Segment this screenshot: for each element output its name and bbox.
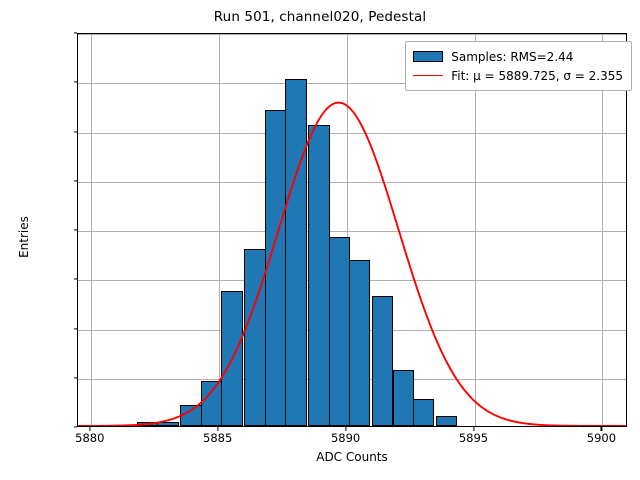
x-tick-mark	[217, 427, 218, 431]
x-tick-label: 5885	[203, 431, 232, 445]
legend-label-samples: Samples: RMS=2.44	[451, 50, 573, 64]
x-tick-mark	[345, 427, 346, 431]
y-axis-label: Entries	[17, 137, 31, 337]
legend-line-swatch-icon	[413, 75, 443, 76]
x-tick-label: 5880	[75, 431, 104, 445]
x-tick-mark	[89, 427, 90, 431]
legend-label-fit: Fit: μ = 5889.725, σ = 2.355	[451, 69, 623, 83]
x-axis-label: ADC Counts	[77, 450, 627, 464]
x-tick-label: 5895	[459, 431, 488, 445]
x-tick-label: 5890	[331, 431, 360, 445]
chart-legend: Samples: RMS=2.44 Fit: μ = 5889.725, σ =…	[405, 41, 632, 91]
x-tick-mark	[601, 427, 602, 431]
chart-title: Run 501, channel020, Pedestal	[0, 9, 640, 25]
x-tick-label: 5900	[587, 431, 616, 445]
legend-entry-fit: Fit: μ = 5889.725, σ = 2.355	[413, 66, 623, 85]
legend-entry-samples: Samples: RMS=2.44	[413, 47, 623, 66]
x-tick-mark	[473, 427, 474, 431]
legend-patch-swatch-icon	[413, 51, 443, 62]
gaussian-fit-curve	[78, 34, 626, 426]
plot-area	[77, 33, 627, 427]
figure-canvas: Run 501, channel020, Pedestal Entries AD…	[0, 0, 640, 480]
